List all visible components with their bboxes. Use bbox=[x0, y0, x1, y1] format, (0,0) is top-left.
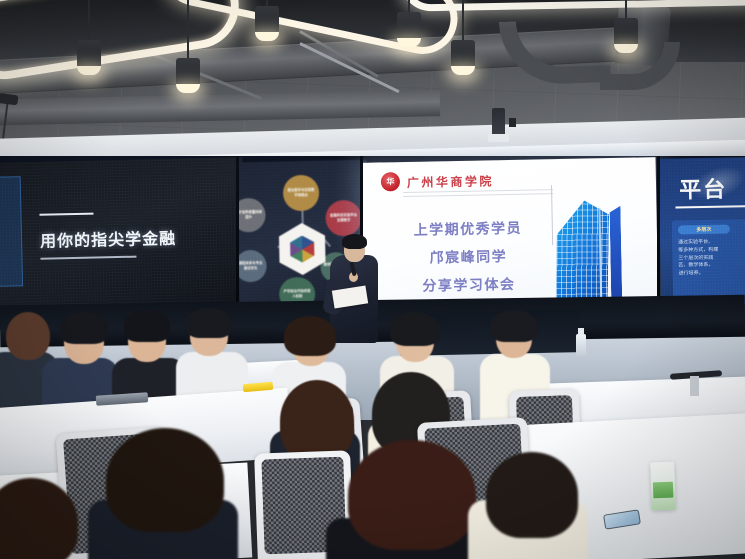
wall-seam bbox=[236, 156, 239, 316]
audience-hair bbox=[284, 316, 336, 356]
ceiling-projector bbox=[492, 108, 505, 136]
audience-hair bbox=[124, 310, 170, 342]
slide-line-2: 邝宸峰同学 bbox=[388, 245, 548, 268]
tissue-box bbox=[650, 462, 676, 511]
screen-left-blue-panel bbox=[0, 176, 23, 287]
pendant-spotlight bbox=[625, 0, 627, 20]
audience-hair bbox=[348, 440, 476, 550]
audience-hair bbox=[490, 310, 538, 342]
diagram-hexagon-core bbox=[279, 223, 326, 276]
diagram-bubble: 课程体系与专业建设优化 bbox=[236, 250, 267, 283]
audience-head bbox=[6, 312, 50, 360]
slide-line-1: 上学期优秀学员 bbox=[388, 217, 548, 240]
pendant-spotlight bbox=[187, 0, 189, 60]
diagram-bubble: 人才培养质量持续提升 bbox=[236, 198, 265, 233]
audience-hair bbox=[280, 380, 354, 462]
ceiling-camera bbox=[509, 118, 516, 127]
screen-right-line: 进行培养。 bbox=[679, 269, 745, 278]
hand-sanitizer-bottle bbox=[576, 334, 586, 356]
diagram-bubble: 理论教学与实践教学相结合 bbox=[283, 175, 320, 212]
screen-right-card: 多层次 通过实验平台、 等多种方式，构建 三个层次的实践 匹、教学体系， 进行培… bbox=[672, 219, 745, 306]
slide-building-graphic bbox=[549, 178, 626, 311]
audience-hair bbox=[486, 452, 578, 538]
pendant-spotlight bbox=[88, 0, 90, 42]
diagram-hexagon-inner bbox=[290, 235, 315, 262]
screen-right-pill: 多层次 bbox=[678, 225, 730, 235]
screen-left-headline: 用你的指尖学金融 bbox=[40, 225, 177, 252]
screen-main-slide[interactable]: 华 广州华商学院 上学期优秀学员 邝宸峰同学 分享学习体会 bbox=[361, 157, 659, 316]
lecture-hall-photo: 用你的指尖学金融 理论教学与实践教学相结合 金融科技实验平台支撑教学 教师队伍建… bbox=[0, 0, 745, 559]
screen-left-rule-top bbox=[39, 213, 93, 216]
audience-hair bbox=[390, 312, 440, 346]
pendant-spotlight bbox=[266, 0, 268, 8]
screen-left-rule-bottom bbox=[40, 256, 136, 260]
audience-hair bbox=[60, 312, 108, 344]
audience-hair bbox=[186, 308, 232, 338]
screen-right-body: 通过实验平台、 等多种方式，构建 三个层次的实践 匹、教学体系， 进行培养。 bbox=[678, 238, 745, 278]
diagram-bubble: 金融科技实验平台支撑教学 bbox=[325, 200, 362, 237]
screen-left[interactable]: 用你的指尖学金融 bbox=[0, 157, 246, 315]
audience-hair bbox=[106, 428, 224, 532]
slide-line-3: 分享学习体会 bbox=[389, 273, 549, 296]
monitor-post bbox=[690, 376, 699, 396]
university-name: 广州华商学院 bbox=[407, 172, 494, 191]
university-seal-icon: 华 bbox=[381, 172, 400, 191]
screen-right-underline bbox=[675, 205, 745, 208]
presenter-hair bbox=[342, 234, 367, 249]
wall-seam bbox=[657, 156, 660, 316]
pendant-spotlight bbox=[462, 0, 464, 42]
slide-divider-lines bbox=[403, 189, 553, 200]
pendant-spotlight bbox=[408, 0, 410, 14]
